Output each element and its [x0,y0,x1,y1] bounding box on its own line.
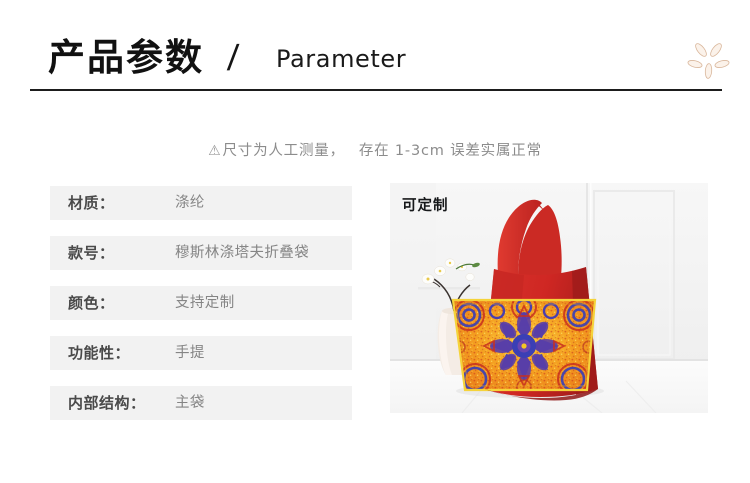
specification-table: 材质： 涤纶 款号： 穆斯林涤塔夫折叠袋 颜色： 支持定制 功能性： 手提 内部… [50,186,352,436]
warning-triangle-icon: ⚠ [208,143,221,159]
page-title-english: Parameter [276,44,406,74]
spec-value: 涤纶 [175,186,205,220]
product-image: 可定制 [390,183,708,413]
customizable-badge: 可定制 [402,197,449,215]
page-header: 产品参数 / Parameter [0,0,750,92]
spec-value: 穆斯林涤塔夫折叠袋 [175,236,309,270]
spec-label: 功能性： [68,336,130,370]
spec-label: 材质： [68,186,115,220]
header-divider-rule [30,89,722,91]
notice-text-primary: 尺寸为人工测量， [222,143,344,159]
table-row: 内部结构： 主袋 [50,386,352,420]
table-row: 款号： 穆斯林涤塔夫折叠袋 [50,236,352,270]
table-row: 材质： 涤纶 [50,186,352,220]
tote-bag-illustration [390,183,708,413]
title-separator-slash: / [226,36,241,80]
spec-value: 支持定制 [175,286,235,320]
spec-value: 主袋 [175,386,205,420]
spec-label: 颜色： [68,286,115,320]
spec-label: 款号： [68,236,115,270]
flower-petal-ornament-icon [685,38,733,84]
page-title-chinese: 产品参数 [48,36,204,80]
table-row: 功能性： 手提 [50,336,352,370]
spec-value: 手提 [175,336,205,370]
spec-label: 内部结构： [68,386,146,420]
product-parameter-page: 产品参数 / Parameter ⚠尺寸为人工测量，存在 1-3cm 误差实属正… [0,0,750,483]
measurement-notice: ⚠尺寸为人工测量，存在 1-3cm 误差实属正常 [0,141,750,161]
notice-text-secondary: 存在 1-3cm 误差实属正常 [359,143,542,159]
table-row: 颜色： 支持定制 [50,286,352,320]
